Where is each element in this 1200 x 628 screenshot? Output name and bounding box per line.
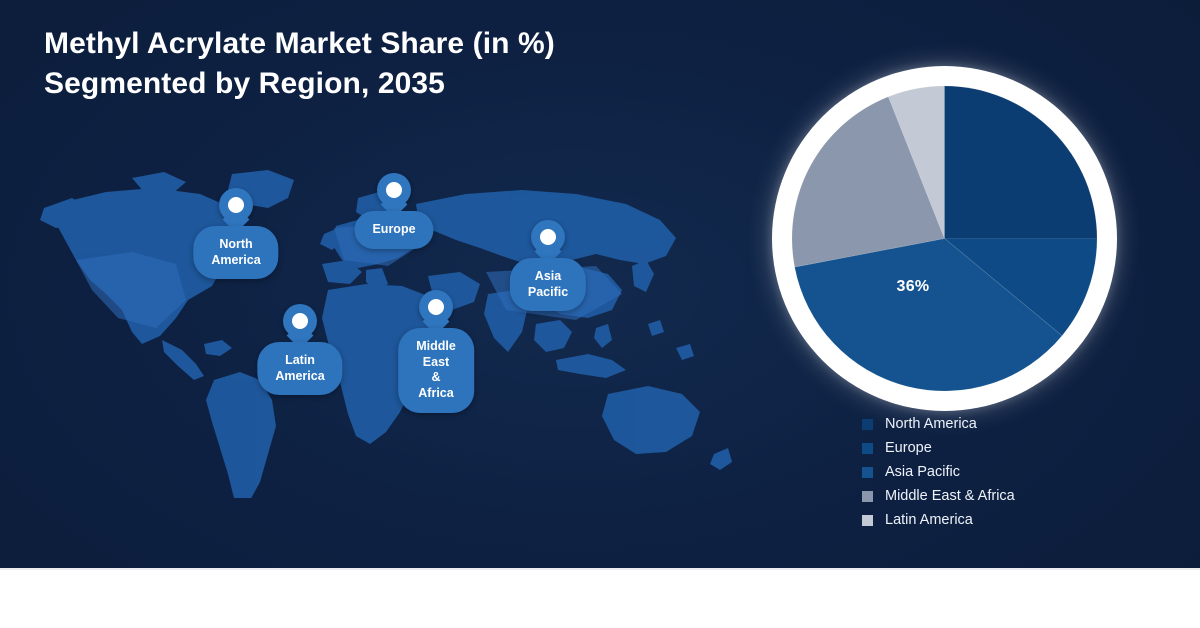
- legend-label: Asia Pacific: [885, 464, 960, 480]
- legend-item-north-america[interactable]: North America: [862, 412, 1015, 436]
- pie-slice[interactable]: [945, 86, 1098, 239]
- page-title: Methyl Acrylate Market Share (in %) Segm…: [44, 24, 684, 104]
- map-pin-label: Europe: [354, 211, 433, 249]
- legend-item-asia-pacific[interactable]: Asia Pacific: [862, 460, 1015, 484]
- map-pin-label: North America: [193, 226, 278, 279]
- legend-swatch: [862, 491, 873, 502]
- page-title-line-2: Segmented by Region, 2035: [44, 64, 684, 104]
- legend-swatch: [862, 467, 873, 478]
- page-title-line-1: Methyl Acrylate Market Share (in %): [44, 24, 684, 64]
- pie-slice-value-label: 36%: [868, 278, 958, 296]
- legend-swatch: [862, 419, 873, 430]
- legend-swatch: [862, 443, 873, 454]
- world-map: North America Europe Asia Pacific Latin …: [36, 168, 746, 498]
- pie-chart-svg: [792, 86, 1097, 391]
- legend-label: North America: [885, 416, 977, 432]
- pie-chart: 36%: [772, 66, 1117, 411]
- legend-label: Middle East & Africa: [885, 488, 1015, 504]
- chart-legend: North America Europe Asia Pacific Middle…: [862, 412, 1015, 532]
- legend-item-latin-america[interactable]: Latin America: [862, 508, 1015, 532]
- legend-item-europe[interactable]: Europe: [862, 436, 1015, 460]
- map-pin-label: Middle East & Africa: [398, 328, 474, 413]
- map-pin-label: Asia Pacific: [510, 258, 586, 311]
- footer-bar: Web: www.researchnester.com | Mob: +1 64…: [0, 570, 1200, 628]
- legend-item-middle-east-africa[interactable]: Middle East & Africa: [862, 484, 1015, 508]
- infographic-canvas: Methyl Acrylate Market Share (in %) Segm…: [0, 0, 1200, 628]
- legend-swatch: [862, 515, 873, 526]
- map-pin-label: Latin America: [257, 342, 342, 395]
- legend-label: Europe: [885, 440, 932, 456]
- legend-label: Latin America: [885, 512, 973, 528]
